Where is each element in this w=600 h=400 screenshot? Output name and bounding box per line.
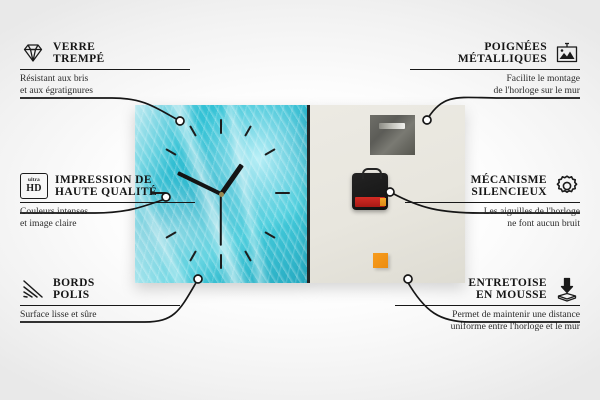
polished-edge-icon: [20, 276, 46, 302]
diamond-icon: [20, 40, 46, 66]
divider: [20, 202, 195, 203]
feature-subtitle: Les aiguilles de l'horloge ne font aucun…: [405, 206, 580, 229]
feature-subtitle: Permet de maintenir une distance uniform…: [395, 309, 580, 332]
infographic-canvas: VERRE TREMPÉ Résistant aux bris et aux é…: [0, 0, 600, 400]
feature-subtitle: Facilite le montage de l'horloge sur le …: [410, 73, 580, 96]
feature-title: BORDS POLIS: [53, 277, 95, 302]
divider: [395, 305, 580, 306]
feature-header: ENTRETOISE EN MOUSSE: [395, 276, 580, 302]
foam-spacer: [373, 253, 388, 268]
feature-title: MÉCANISME SILENCIEUX: [471, 174, 547, 199]
clock-movement: [352, 173, 388, 210]
feature-title: VERRE TREMPÉ: [53, 41, 105, 66]
battery-terminal: [380, 198, 386, 206]
clock-tick: [220, 119, 222, 134]
feature-subtitle: Résistant aux bris et aux égratignures: [20, 73, 190, 96]
gear-icon: [554, 173, 580, 199]
foam-spacer-arrow-icon: [554, 276, 580, 302]
feature-poignees-metalliques: POIGNÉES MÉTALLIQUES Facilite le montage…: [410, 40, 580, 96]
clock-tick: [189, 125, 197, 136]
divider: [20, 69, 190, 70]
clock-tick: [244, 250, 252, 261]
clock-second-hand: [220, 194, 222, 246]
feature-title: POIGNÉES MÉTALLIQUES: [458, 41, 547, 66]
feature-subtitle: Couleurs intenses et image claire: [20, 206, 195, 229]
feature-header: POIGNÉES MÉTALLIQUES: [410, 40, 580, 66]
ultra-hd-icon-main: HD: [26, 184, 42, 194]
divider: [405, 202, 580, 203]
hanger-slot: [379, 123, 405, 129]
feature-title: ENTRETOISE EN MOUSSE: [468, 277, 547, 302]
feature-subtitle: Surface lisse et sûre: [20, 309, 180, 320]
clock-tick: [189, 250, 197, 261]
feature-header: ultra HD IMPRESSION DE HAUTE QUALITÉ: [20, 173, 195, 199]
clock-tick: [244, 125, 252, 136]
clock-tick: [165, 148, 176, 156]
clock-tick: [220, 254, 222, 269]
clock-hour-hand: [219, 163, 243, 195]
divider: [410, 69, 580, 70]
feature-header: VERRE TREMPÉ: [20, 40, 190, 66]
clock-tick: [264, 148, 275, 156]
clock-tick: [165, 231, 176, 239]
feature-title: IMPRESSION DE HAUTE QUALITÉ: [55, 174, 157, 199]
metal-hanger-plate: [370, 115, 415, 155]
feature-mecanisme-silencieux: MÉCANISME SILENCIEUX Les aiguilles de l'…: [405, 173, 580, 229]
feature-impression-haute-qualite: ultra HD IMPRESSION DE HAUTE QUALITÉ Cou…: [20, 173, 195, 229]
feature-entretoise-en-mousse: ENTRETOISE EN MOUSSE Permet de maintenir…: [395, 276, 580, 332]
divider: [20, 305, 180, 306]
movement-hook: [362, 168, 382, 179]
picture-frame-icon: [554, 40, 580, 66]
clock-center-pin: [219, 192, 224, 197]
feature-verre-trempe: VERRE TREMPÉ Résistant aux bris et aux é…: [20, 40, 190, 96]
feature-bords-polis: BORDS POLIS Surface lisse et sûre: [20, 276, 180, 321]
feature-header: MÉCANISME SILENCIEUX: [405, 173, 580, 199]
battery: [355, 197, 385, 207]
clock-tick: [264, 231, 275, 239]
ultra-hd-icon: ultra HD: [20, 173, 48, 199]
feature-header: BORDS POLIS: [20, 276, 180, 302]
clock-tick: [275, 192, 290, 194]
